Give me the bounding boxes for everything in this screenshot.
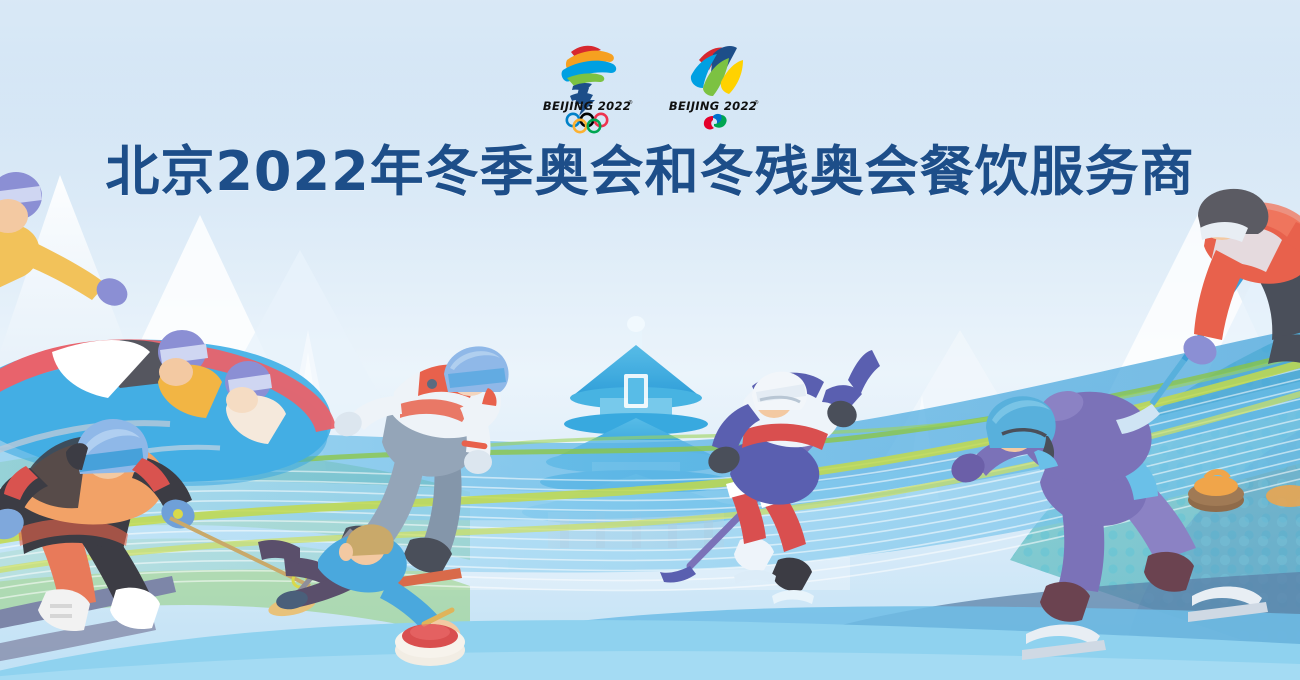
emblem-row: BEIJING 2022 ® [0, 30, 1300, 135]
beijing-2022-banner: BEIJING 2022 ® [0, 0, 1300, 680]
olympic-emblem: BEIJING 2022 ® [537, 30, 637, 135]
paralympic-figure-mark [691, 46, 743, 96]
olympic-trademark: ® [628, 99, 633, 106]
page-title: 北京2022年冬季奥会和冬残奥会餐饮服务商 [105, 144, 1194, 201]
paralympic-emblem: BEIJING 2022 ® [663, 30, 763, 135]
agitos-icon [704, 114, 727, 130]
paralympic-trademark: ® [754, 99, 759, 106]
olympic-wordmark: BEIJING 2022 [543, 99, 631, 113]
paralympic-wordmark: BEIJING 2022 [669, 99, 757, 113]
olympic-rings-icon [567, 114, 607, 132]
title-block: 北京2022年冬季奥会和冬残奥会餐饮服务商 [0, 144, 1300, 201]
